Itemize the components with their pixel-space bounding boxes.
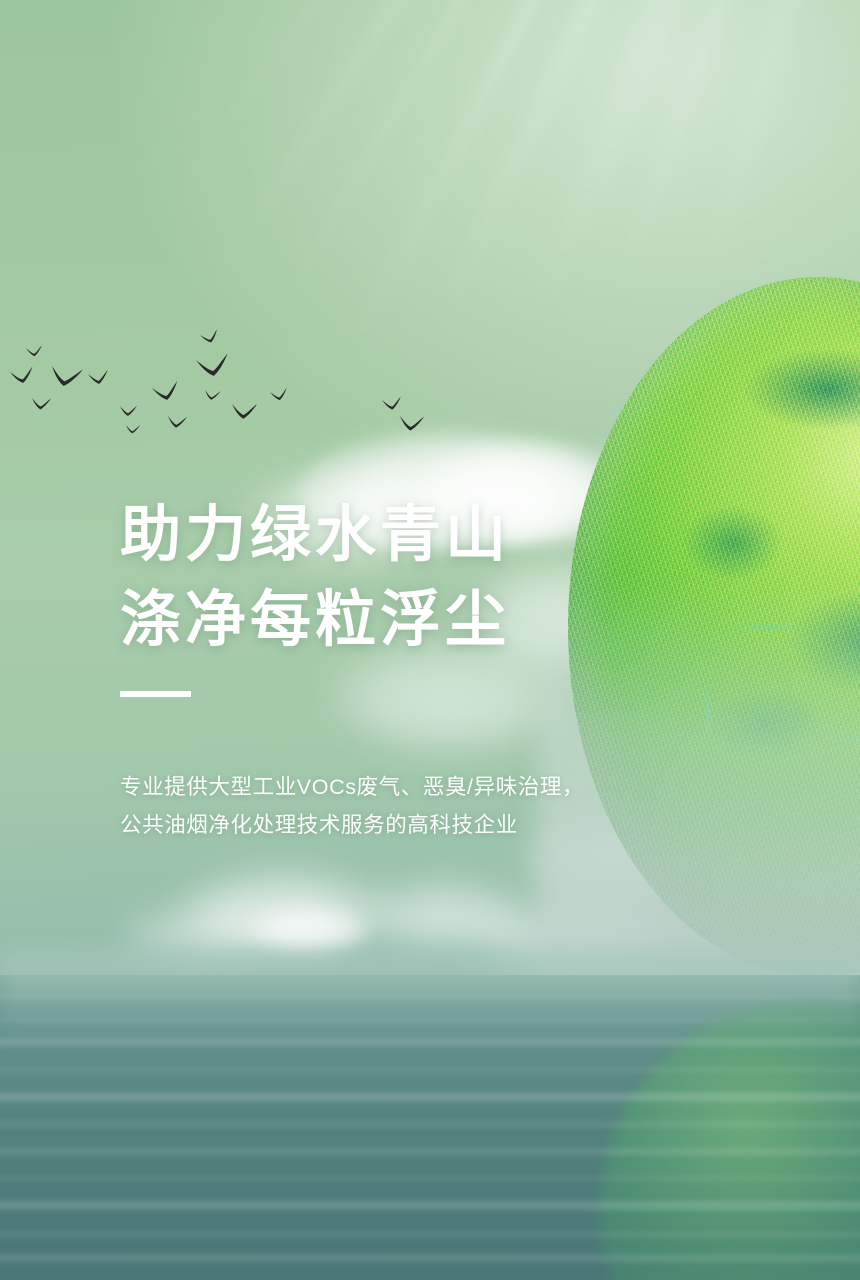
bird-icon [31,396,51,410]
water-ripple [0,1091,860,1103]
subtitle-line-1: 专业提供大型工业VOCs废气、恶臭/异味治理， [120,768,584,806]
green-grass-earth-globe [568,277,860,977]
bird-icon [167,414,188,429]
water-ripple [0,1147,860,1156]
bird-icon [382,396,402,410]
bird-icon [270,388,288,401]
water-ripple [0,1231,860,1238]
flying-birds-flock [0,330,470,460]
headline-line-1: 助力绿水青山 [120,492,510,577]
bird-icon [88,370,109,385]
water-ripple [0,1121,860,1128]
white-rule [120,691,191,697]
water-ripple [0,1199,860,1212]
water-horizon-haze [0,950,860,1040]
bird-icon [119,404,137,416]
subtitle-line-2: 公共油烟净化处理技术服务的高科技企业 [120,806,584,844]
promo-poster: 助力绿水青山 涤净每粒浮尘 专业提供大型工业VOCs废气、恶臭/异味治理， 公共… [0,0,860,1280]
bird-icon [398,414,424,432]
water-ripple [0,1067,860,1073]
page-subtitle: 专业提供大型工业VOCs废气、恶臭/异味治理， 公共油烟净化处理技术服务的高科技… [120,768,584,844]
cloud [248,905,368,955]
bird-icon [200,330,220,345]
bird-icon [10,367,35,385]
bird-icon [48,363,83,389]
bird-icon [125,424,140,435]
bird-icon [204,388,221,401]
page-title: 助力绿水青山 涤净每粒浮尘 [120,492,510,662]
bird-icon [152,381,181,402]
headline-line-2: 涤净每粒浮尘 [120,577,510,662]
bird-icon [231,402,257,420]
water-ripple [0,1175,860,1181]
water-ripple [0,1253,860,1263]
bird-icon [26,345,43,356]
bird-icon [196,353,230,377]
globe-mist-overlay [538,577,860,997]
